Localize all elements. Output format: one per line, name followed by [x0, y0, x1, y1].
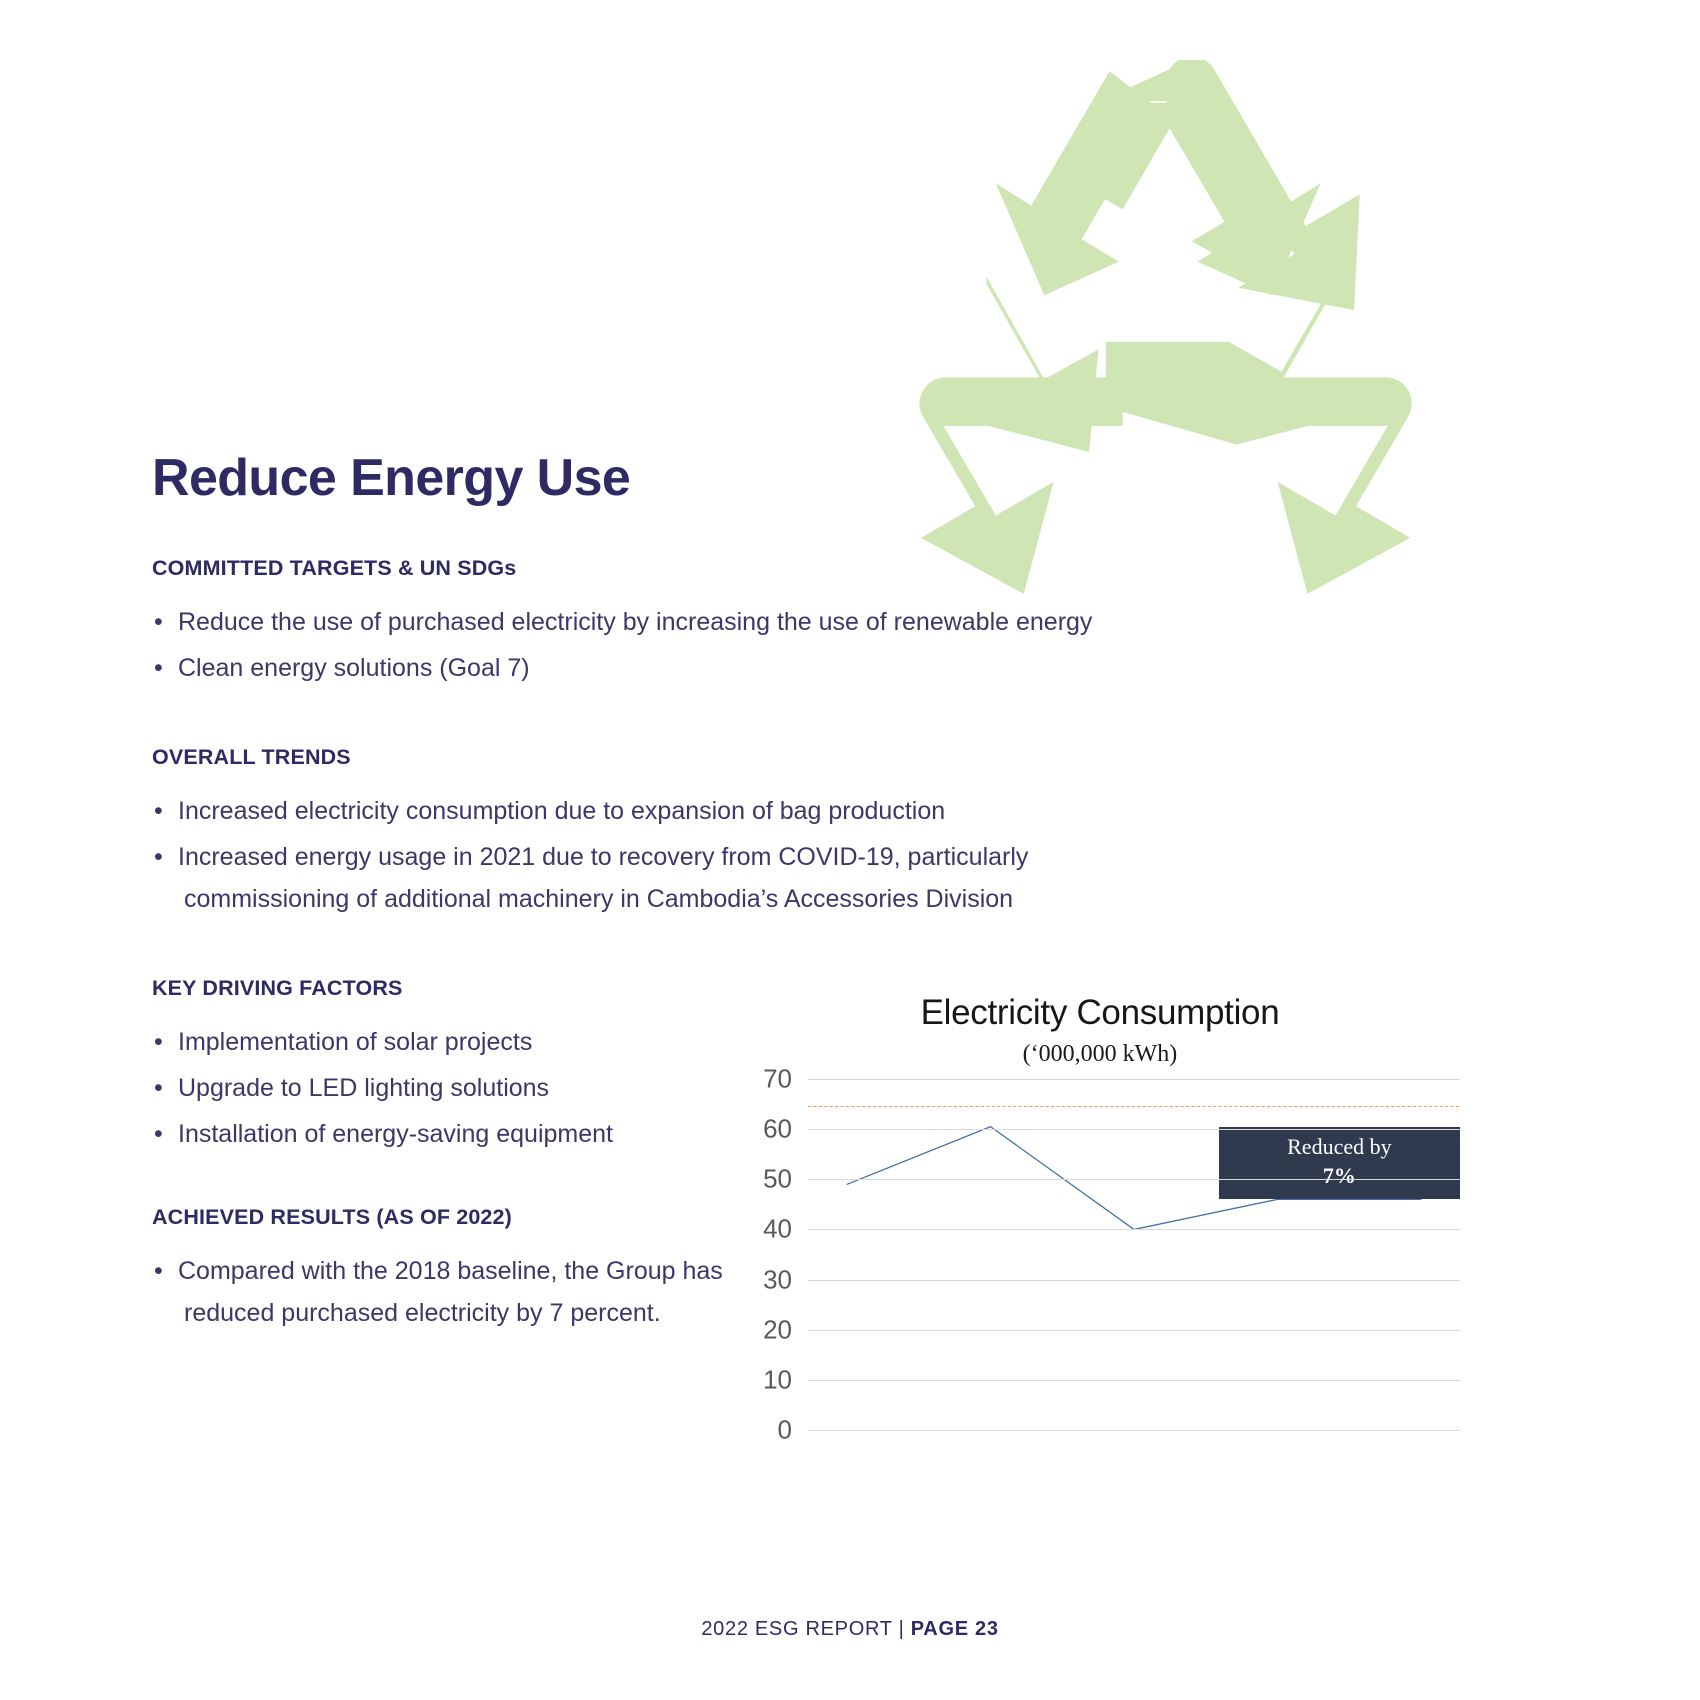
section-heading: COMMITTED TARGETS & UN SDGs: [152, 556, 1112, 581]
chart-plot-area: Reduced by 7% 706050403020100: [808, 1079, 1460, 1430]
chart-gridline: [808, 1129, 1460, 1130]
y-axis-tick-label: 70: [763, 1064, 792, 1095]
list-item: • Clean energy solutions (Goal 7): [152, 647, 1112, 689]
spacer: [152, 693, 1112, 745]
list-item-text: Compared with the 2018 baseline, the Gro…: [178, 1257, 723, 1285]
bullet-dot: •: [154, 601, 163, 643]
y-axis-tick-label: 30: [763, 1264, 792, 1295]
y-axis-tick-label: 0: [778, 1415, 792, 1446]
y-axis-tick-label: 10: [763, 1364, 792, 1395]
callout-line-2: 7%: [1219, 1162, 1460, 1191]
list-item-text: Clean energy solutions (Goal 7): [178, 654, 530, 682]
footer-report-label: 2022 ESG REPORT: [701, 1618, 892, 1640]
y-axis-tick-label: 50: [763, 1164, 792, 1195]
bullet-dot: •: [154, 1250, 163, 1292]
y-axis-tick-label: 20: [763, 1314, 792, 1345]
section-heading: OVERALL TRENDS: [152, 745, 1112, 770]
footer-separator: |: [899, 1618, 905, 1640]
chart-gridline: [808, 1079, 1460, 1080]
bullet-dot: •: [154, 1113, 163, 1155]
reduced-callout: Reduced by 7%: [1219, 1127, 1460, 1200]
bullet-list: • Increased electricity consumption due …: [152, 790, 1112, 920]
bullet-dot: •: [154, 1021, 163, 1063]
section-committed-targets: COMMITTED TARGETS & UN SDGs • Reduce the…: [152, 556, 1112, 689]
chart-gridline: [808, 1430, 1460, 1431]
footer-page-number: PAGE 23: [911, 1618, 999, 1640]
chart-subtitle: (‘000,000 kWh): [740, 1041, 1460, 1068]
chart-gridline: [808, 1330, 1460, 1331]
spacer: [152, 924, 1112, 976]
page-footer: 2022 ESG REPORT | PAGE 23: [0, 1618, 1700, 1641]
chart-gridline: [808, 1380, 1460, 1381]
bullet-dot: •: [154, 836, 163, 878]
page-title: Reduce Energy Use: [152, 448, 630, 508]
callout-line-1: Reduced by: [1219, 1133, 1460, 1162]
list-item: • Increased energy usage in 2021 due to …: [152, 836, 1112, 920]
list-item-text: Implementation of solar projects: [178, 1028, 532, 1056]
section-overall-trends: OVERALL TRENDS • Increased electricity c…: [152, 745, 1112, 920]
electricity-consumption-chart: Electricity Consumption (‘000,000 kWh) R…: [740, 985, 1460, 1430]
bullet-dot: •: [154, 790, 163, 832]
list-item-text: Reduce the use of purchased electricity …: [178, 608, 1092, 636]
list-item-text: Installation of energy-saving equipment: [178, 1120, 613, 1148]
list-item: • Increased electricity consumption due …: [152, 790, 1112, 832]
chart-gridline: [808, 1229, 1460, 1230]
chart-gridline: [808, 1280, 1460, 1281]
list-item-text: Upgrade to LED lighting solutions: [178, 1074, 549, 1102]
recycle-icon: [880, 60, 1440, 620]
chart-title: Electricity Consumption: [740, 993, 1460, 1033]
list-item-text: Increased electricity consumption due to…: [178, 797, 945, 825]
bullet-dot: •: [154, 1067, 163, 1109]
y-axis-tick-label: 60: [763, 1114, 792, 1145]
chart-gridline: [808, 1179, 1460, 1180]
report-page: Reduce Energy Use COMMITTED TARGETS & UN…: [0, 0, 1700, 1700]
list-item-text-continued: commissioning of additional machinery in…: [178, 878, 1112, 920]
list-item: • Reduce the use of purchased electricit…: [152, 601, 1112, 643]
bullet-dot: •: [154, 647, 163, 689]
y-axis-tick-label: 40: [763, 1214, 792, 1245]
list-item-text: Increased energy usage in 2021 due to re…: [178, 843, 1028, 871]
bullet-list: • Reduce the use of purchased electricit…: [152, 601, 1112, 689]
